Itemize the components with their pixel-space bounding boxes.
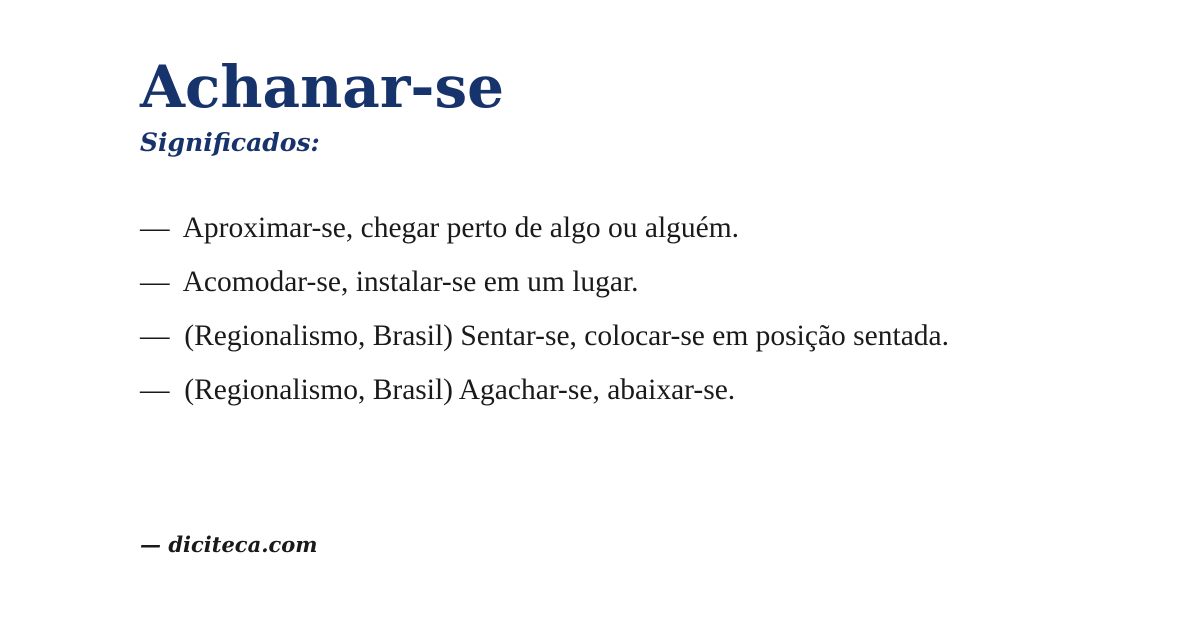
list-item: — Acomodar-se, instalar-se em um lugar. — [140, 265, 980, 299]
list-item: — (Regionalismo, Brasil) Sentar-se, colo… — [140, 319, 980, 353]
list-item: — (Regionalismo, Brasil) Agachar-se, aba… — [140, 373, 980, 407]
definition-text: Acomodar-se, instalar-se em um lugar. — [183, 266, 639, 298]
source-name: diciteca.com — [168, 532, 317, 557]
em-dash-bullet-icon: — — [140, 212, 183, 244]
meanings-label: Significados: — [140, 116, 1040, 155]
definition-text: (Regionalismo, Brasil) Sentar-se, coloca… — [184, 320, 949, 352]
definition-text: Aproximar-se, chegar perto de algo ou al… — [183, 212, 739, 244]
source-attribution: — diciteca.com — [140, 534, 318, 555]
definitions-list: — Aproximar-se, chegar perto de algo ou … — [140, 155, 1040, 407]
em-dash-bullet-icon: — — [140, 320, 184, 352]
definition-text: (Regionalismo, Brasil) Agachar-se, abaix… — [184, 374, 735, 406]
definition-card: Achanar-se Significados: — Aproximar-se,… — [0, 0, 1200, 628]
card-content: Achanar-se Significados: — Aproximar-se,… — [140, 0, 1040, 407]
page-title: Achanar-se — [140, 0, 1040, 116]
em-dash-bullet-icon: — — [140, 374, 184, 406]
footer-dash-icon: — — [140, 532, 168, 557]
em-dash-bullet-icon: — — [140, 266, 183, 298]
list-item: — Aproximar-se, chegar perto de algo ou … — [140, 211, 980, 245]
